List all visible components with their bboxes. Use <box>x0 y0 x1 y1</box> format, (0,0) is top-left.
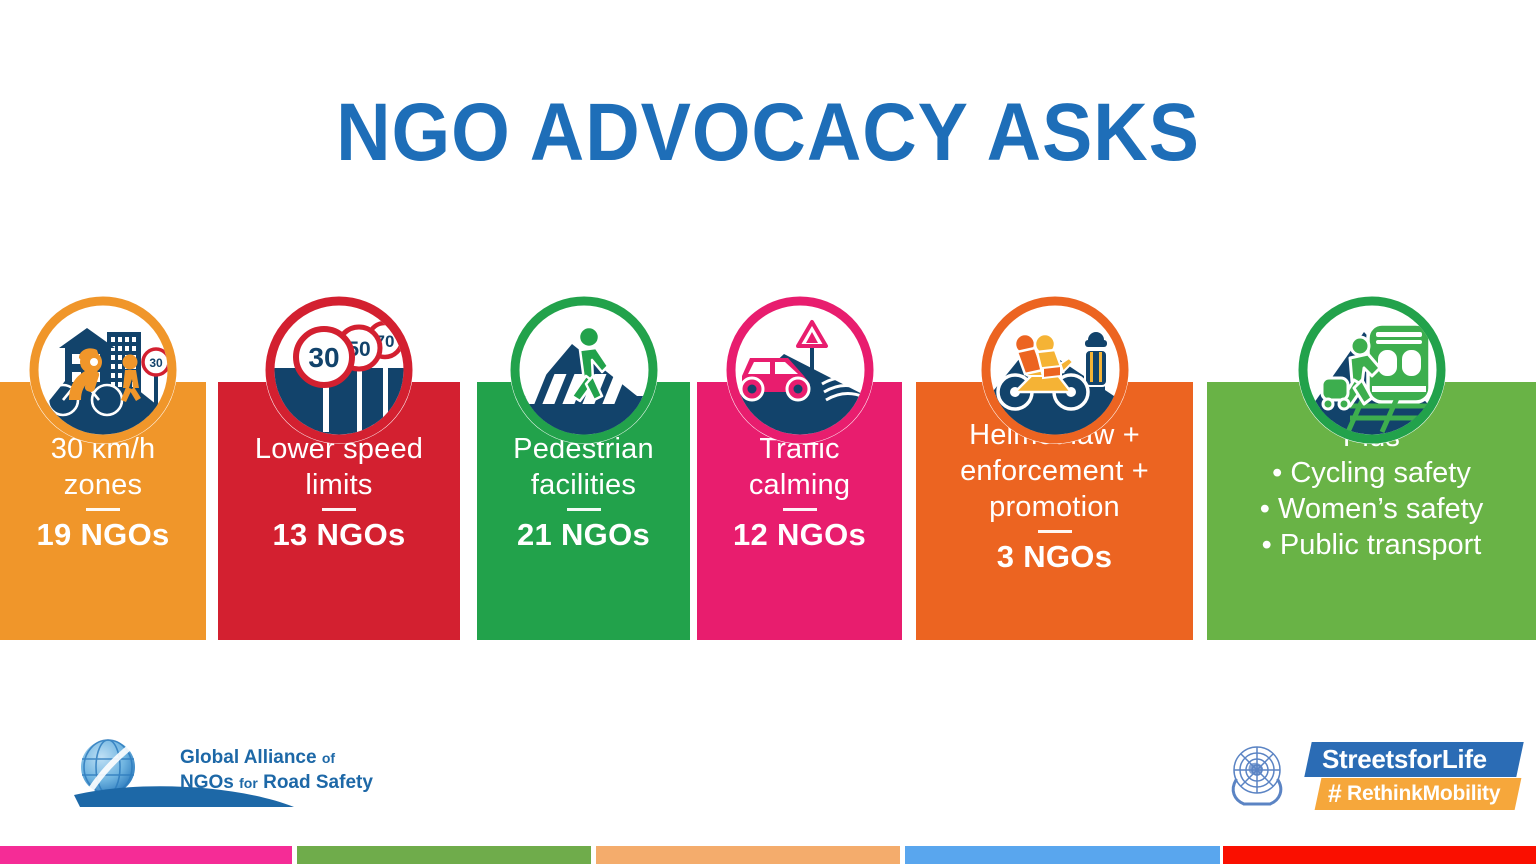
card-text-block: 30 km/h zones 19 NGOs <box>0 432 206 553</box>
strip-segment <box>905 846 1220 864</box>
card-30kmh-zones[interactable]: 30 <box>0 382 206 640</box>
card-lower-speed-limits[interactable]: 70 50 30 Lower speed limits 13 NGOs <box>218 382 460 640</box>
card-text-block: Traffic calming 12 NGOs <box>697 432 902 553</box>
card-text-block: Pedestrian facilities 21 NGOs <box>477 432 690 553</box>
svg-text:30: 30 <box>308 342 339 373</box>
hashtag-icon: # <box>1328 780 1342 809</box>
page-title: NGO ADVOCACY ASKS <box>61 92 1474 174</box>
card-text-block: Lower speed limits 13 NGOs <box>218 432 460 553</box>
united-nations-emblem-icon <box>1222 738 1292 812</box>
svg-text:30: 30 <box>149 356 163 370</box>
strip-segment <box>0 846 292 864</box>
plus-bullet-list: • Cycling safety • Women’s safety • Publ… <box>1215 456 1528 564</box>
card-plus-additional-asks[interactable]: Plus • Cycling safety • Women’s safety •… <box>1207 382 1536 640</box>
card-traffic-calming[interactable]: Traffic calming 12 NGOs <box>697 382 902 640</box>
divider-dash <box>783 508 817 511</box>
strip-segment <box>1223 846 1536 864</box>
card-helmet-law[interactable]: Helmet law + enforcement + promotion 3 N… <box>916 382 1193 640</box>
train-commuter-icon <box>1298 296 1446 444</box>
car-speed-bump-warning-icon <box>726 296 874 444</box>
rethink-mobility-banner: # RethinkMobility <box>1315 778 1522 810</box>
advocacy-asks-card-row: 30 <box>0 382 1536 640</box>
card-ngo-count: 3 NGOs <box>924 539 1185 575</box>
list-item: • Cycling safety <box>1215 456 1528 492</box>
bullet-icon: • <box>1262 529 1280 561</box>
speed-limit-signs-icon: 70 50 30 <box>265 296 413 444</box>
global-alliance-logo: Global Alliance of NGOs for Road Safety <box>62 735 332 817</box>
motorcycle-helmet-police-icon <box>981 296 1129 444</box>
divider-dash <box>86 508 120 511</box>
card-ngo-count: 19 NGOs <box>8 517 198 553</box>
bullet-icon: • <box>1272 457 1290 489</box>
un-streets-for-life-logo: StreetsforLife # RethinkMobility <box>1222 738 1522 816</box>
card-ngo-count: 21 NGOs <box>485 517 682 553</box>
divider-dash <box>1038 530 1072 533</box>
card-ngo-count: 12 NGOs <box>705 517 894 553</box>
strip-segment <box>596 846 900 864</box>
streets-for-life-banners: StreetsforLife # RethinkMobility <box>1300 740 1522 812</box>
list-item: • Women’s safety <box>1215 492 1528 528</box>
card-pedestrian-facilities[interactable]: Pedestrian facilities 21 NGOs <box>477 382 690 640</box>
divider-dash <box>322 508 356 511</box>
bullet-icon: • <box>1260 493 1278 525</box>
global-alliance-logo-text: Global Alliance of NGOs for Road Safety <box>180 745 373 796</box>
list-item: • Public transport <box>1215 528 1528 564</box>
divider-dash <box>567 508 601 511</box>
strip-segment <box>297 846 591 864</box>
bottom-color-strip <box>0 846 1536 864</box>
card-ngo-count: 13 NGOs <box>226 517 452 553</box>
streets-for-life-banner: StreetsforLife <box>1304 742 1523 777</box>
city-cyclist-pedestrian-30-sign-icon: 30 <box>29 296 177 444</box>
zebra-crossing-pedestrian-icon <box>510 296 658 444</box>
